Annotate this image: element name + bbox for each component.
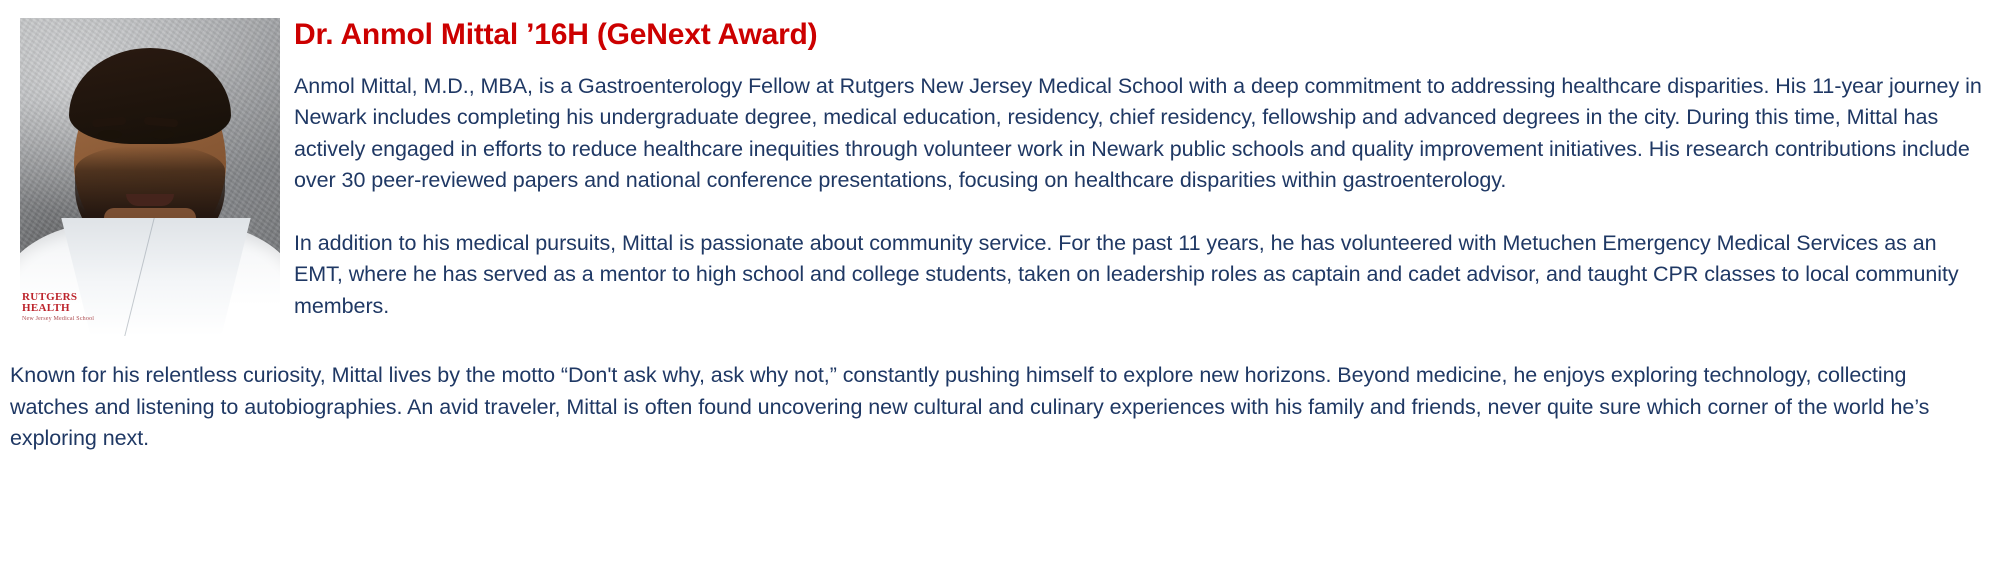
page-title: Dr. Anmol Mittal ’16H (GeNext Award)	[0, 0, 1986, 53]
bio-paragraph-3: Known for his relentless curiosity, Mitt…	[0, 342, 2000, 455]
profile-photo: RUTGERS HEALTH New Jersey Medical School	[20, 18, 280, 336]
bio-content: Dr. Anmol Mittal ’16H (GeNext Award) Anm…	[0, 0, 2000, 322]
photo-mouth	[126, 194, 174, 206]
profile-bio-page: RUTGERS HEALTH New Jersey Medical School…	[0, 0, 2000, 576]
photo-eye-left	[98, 130, 122, 139]
bio-paragraph-1: Anmol Mittal, M.D., MBA, is a Gastroente…	[0, 53, 1986, 197]
bio-paragraph-2: In addition to his medical pursuits, Mit…	[0, 197, 1986, 323]
photo-eye-right	[150, 130, 174, 139]
